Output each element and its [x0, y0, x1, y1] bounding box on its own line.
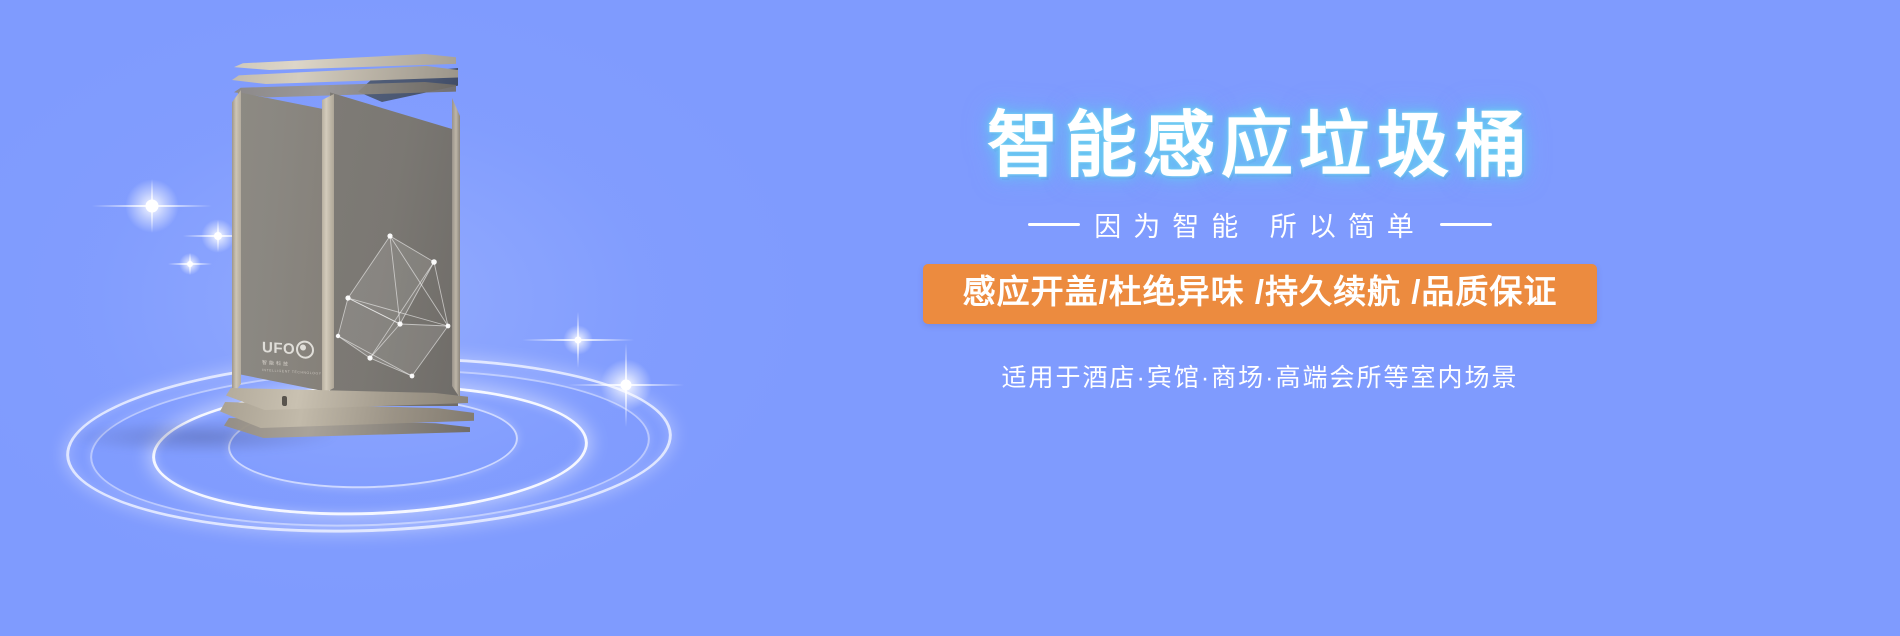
scene-line: 适用于酒店·宾馆·商场·高端会所等室内场景 [880, 358, 1640, 394]
rule-left [1028, 223, 1080, 226]
right-edge-trim [452, 98, 460, 398]
trash-can-body: UFO 智能科技 INTELLIGENT TECHNOLOGY [210, 40, 490, 430]
copy-block: 智能感应垃圾桶 因为智能 所以简单 感应开盖/杜绝异味 /持久续航 /品质保证 … [880, 110, 1640, 394]
promo-banner: UFO 智能科技 INTELLIGENT TECHNOLOGY 智能感应垃圾桶 … [0, 0, 1900, 636]
tagline-bar: 感应开盖/杜绝异味 /持久续航 /品质保证 [923, 264, 1597, 323]
ufo-brand-logo: UFO 智能科技 INTELLIGENT TECHNOLOGY [262, 340, 326, 386]
lid-under-shadow [234, 82, 456, 98]
product-illustration: UFO 智能科技 INTELLIGENT TECHNOLOGY [60, 40, 700, 560]
brand-mark-text: UFO [262, 340, 295, 357]
left-edge-trim [232, 90, 241, 396]
tagline-text: 感应开盖/杜绝异味 /持久续航 /品质保证 [923, 274, 1597, 310]
lock-latch-icon [282, 396, 287, 406]
glass-panel-face [330, 86, 458, 406]
brand-circle-icon [296, 340, 314, 359]
headline: 智能感应垃圾桶 [880, 110, 1640, 183]
subline-text: 因为智能 所以简单 [1094, 205, 1426, 244]
polygon-network-graphic [330, 86, 458, 406]
rule-right [1440, 223, 1492, 226]
subline: 因为智能 所以简单 [880, 205, 1640, 244]
